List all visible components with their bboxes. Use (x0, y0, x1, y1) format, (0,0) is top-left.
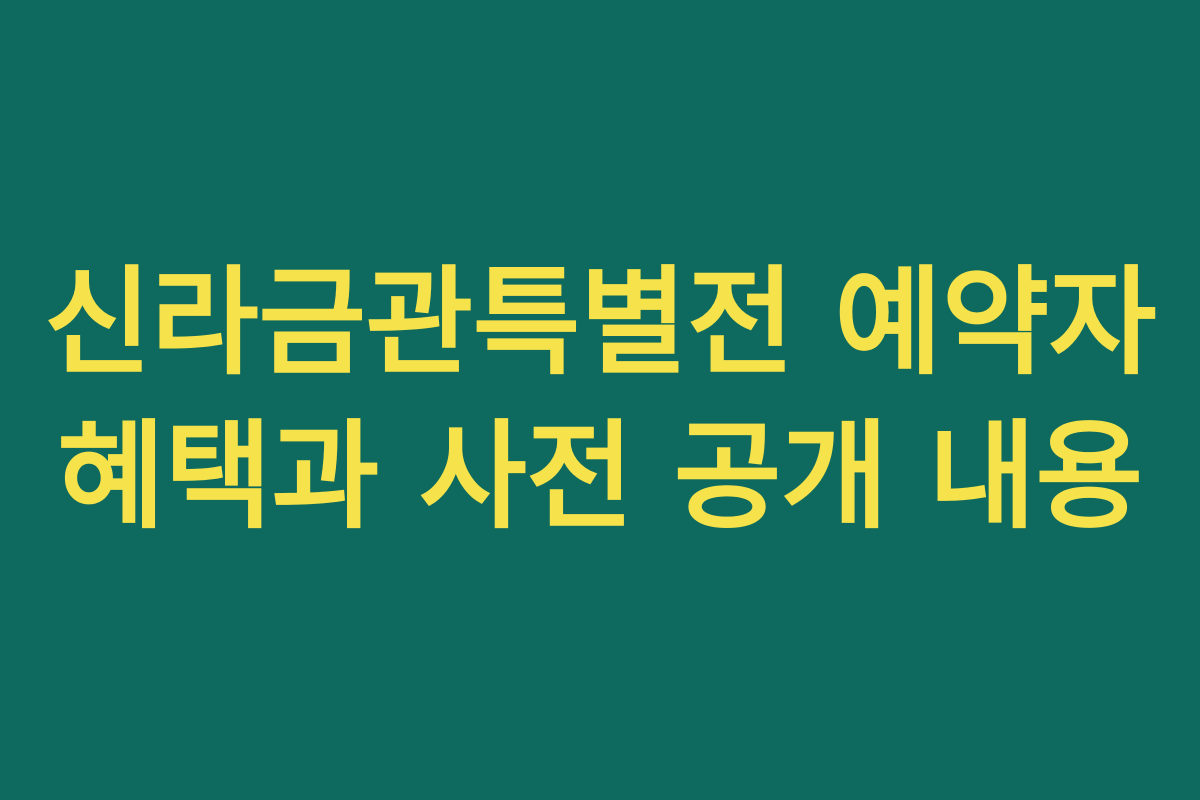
headline-line-2: 혜택과 사전 공개 내용 (57, 408, 1142, 546)
headline-block: 신라금관특별전 예약자 혜택과 사전 공개 내용 (0, 254, 1200, 546)
headline-line-1: 신라금관특별전 예약자 (44, 254, 1156, 392)
banner-canvas: 신라금관특별전 예약자 혜택과 사전 공개 내용 (0, 0, 1200, 800)
